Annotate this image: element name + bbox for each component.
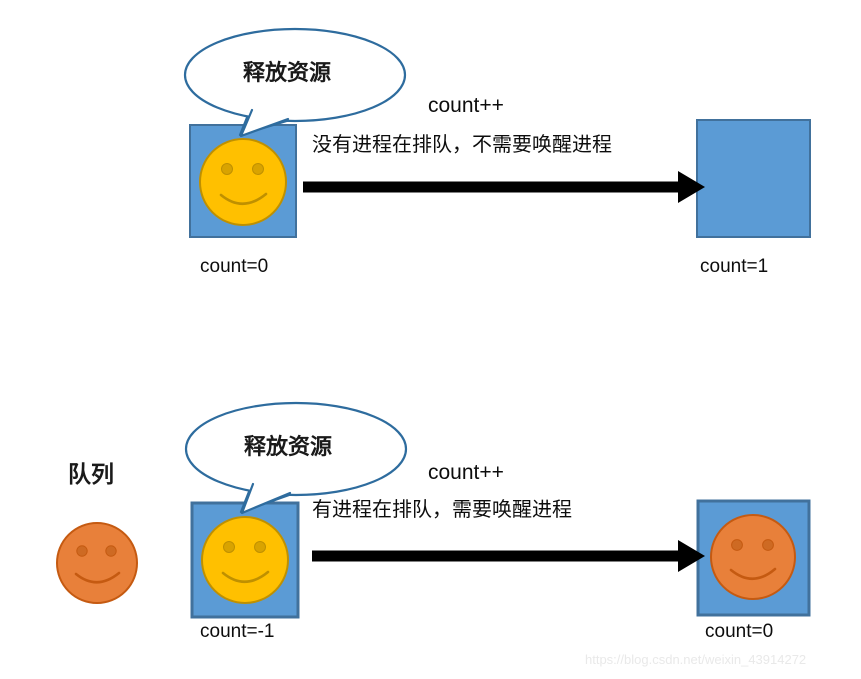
source-count-label-row2: count=-1: [200, 622, 274, 641]
diagram-canvas: 释放资源 count++ 没有进程在排队，不需要唤醒进程 count=0 cou…: [0, 0, 861, 679]
target-count-label-row1: count=1: [700, 257, 768, 276]
orange-smiley-face-icon-row2: [711, 515, 795, 599]
description-row2: 有进程在排队，需要唤醒进程: [312, 500, 572, 520]
transition-arrow-row2: [312, 540, 705, 572]
operation-label-row1: count++: [428, 95, 504, 116]
description-row1: 没有进程在排队，不需要唤醒进程: [312, 135, 612, 155]
watermark-text: https://blog.csdn.net/weixin_43914272: [585, 652, 806, 667]
queue-orange-smiley-face-icon: [57, 523, 137, 603]
queue-label: 队列: [68, 463, 114, 486]
source-count-label-row1: count=0: [200, 257, 268, 276]
target-count-label-row2: count=0: [705, 622, 773, 641]
operation-label-row2: count++: [428, 462, 504, 483]
bubble-text-row1: 释放资源: [243, 62, 331, 84]
transition-arrow-row1: [303, 171, 705, 203]
target-box-row1: [697, 120, 810, 237]
yellow-smiley-face-icon-row2: [202, 517, 288, 603]
bubble-text-row2: 释放资源: [244, 436, 332, 458]
yellow-smiley-face-icon-row1: [200, 139, 286, 225]
